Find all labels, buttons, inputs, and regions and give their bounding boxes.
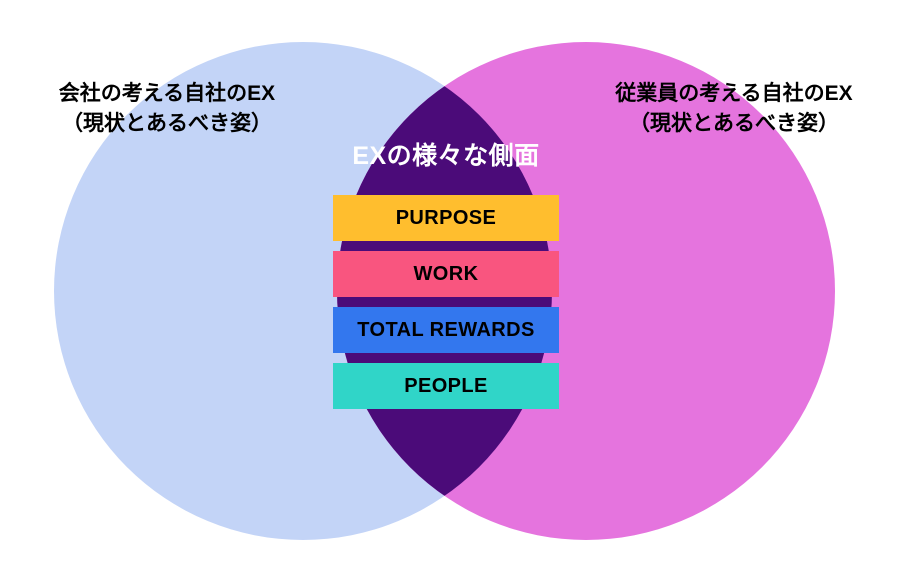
left-circle-label-line1: 会社の考える自社のEX [59,82,275,105]
aspect-bar-label: TOTAL REWARDS [357,319,534,342]
right-circle-label: 従業員の考える自社のEX （現状とあるべき姿） [588,79,880,140]
right-circle-label-line2: （現状とあるべき姿） [588,109,880,139]
aspect-bar-list: PURPOSEWORKTOTAL REWARDSPEOPLE [333,195,559,409]
aspect-bar-label: WORK [414,263,479,286]
aspect-bar: WORK [333,251,559,297]
venn-diagram-canvas: 会社の考える自社のEX （現状とあるべき姿） 従業員の考える自社のEX （現状と… [0,0,900,564]
left-circle-label: 会社の考える自社のEX （現状とあるべき姿） [22,79,312,140]
aspect-bar: TOTAL REWARDS [333,307,559,353]
aspect-bar: PURPOSE [333,195,559,241]
left-circle-label-line2: （現状とあるべき姿） [22,109,312,139]
aspect-bar-label: PURPOSE [396,207,497,230]
right-circle-label-line1: 従業員の考える自社のEX [615,82,852,105]
intersection-title: EXの様々な側面 [288,136,604,172]
aspect-bar-label: PEOPLE [404,375,488,398]
aspect-bar: PEOPLE [333,363,559,409]
